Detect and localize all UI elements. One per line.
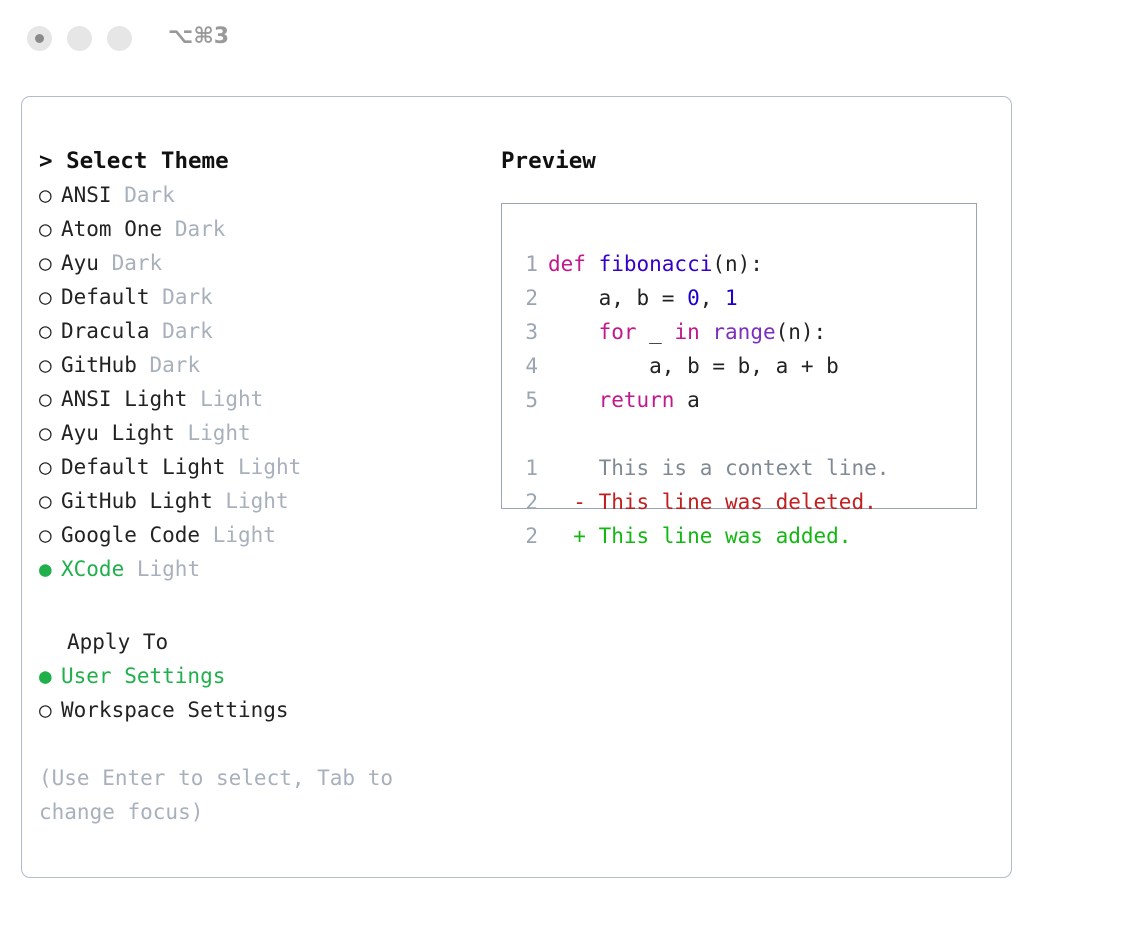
code-preview-panel: 1def fibonacci(n):2 a, b = 0, 13 for _ i… <box>501 203 977 509</box>
diff-line-number: 2 <box>516 485 538 519</box>
theme-list-item[interactable]: ○Default Light Light <box>39 450 479 484</box>
theme-list: ○ANSI Dark○Atom One Dark○Ayu Dark○Defaul… <box>39 178 479 586</box>
window-button-maximize[interactable] <box>107 26 132 51</box>
radio-unselected-icon: ○ <box>39 450 61 484</box>
theme-name: Google Code <box>61 523 200 547</box>
radio-unselected-icon: ○ <box>39 693 61 727</box>
code-line: 1def fibonacci(n): <box>516 247 966 281</box>
theme-list-item[interactable]: ○Google Code Light <box>39 518 479 552</box>
code-line: 5 return a <box>516 383 966 417</box>
theme-list-item[interactable]: ○Ayu Light Light <box>39 416 479 450</box>
theme-variant-label: Dark <box>124 183 175 207</box>
window-titlebar: ⌥⌘3 <box>0 0 1140 78</box>
theme-name: Ayu Light <box>61 421 175 445</box>
diff-line: 2 + This line was added. <box>516 519 966 553</box>
theme-name: GitHub <box>61 353 137 377</box>
radio-unselected-icon: ○ <box>39 314 61 348</box>
diff-sign <box>548 456 599 480</box>
diff-text: This line was deleted. <box>599 490 877 514</box>
code-token-kw: for <box>548 320 649 344</box>
diff-text: This line was added. <box>599 524 852 548</box>
apply-to-section: Apply To ●User Settings○Workspace Settin… <box>39 625 479 727</box>
theme-name: ANSI <box>61 183 112 207</box>
code-line-number: 5 <box>516 383 538 417</box>
theme-list-item[interactable]: ○GitHub Light Light <box>39 484 479 518</box>
theme-name: Atom One <box>61 217 162 241</box>
radio-unselected-icon: ○ <box>39 178 61 212</box>
radio-selected-icon: ● <box>39 659 61 693</box>
app-window: ⌥⌘3 > Select Theme ○ANSI Dark○Atom One D… <box>0 0 1140 934</box>
radio-unselected-icon: ○ <box>39 382 61 416</box>
diff-line: 2 - This line was deleted. <box>516 485 966 519</box>
code-token-plain: _ <box>649 320 674 344</box>
theme-name: Dracula <box>61 319 150 343</box>
main-panel: > Select Theme ○ANSI Dark○Atom One Dark○… <box>21 96 1012 878</box>
code-token-plain: (n): <box>712 252 763 276</box>
code-line-number: 1 <box>516 247 538 281</box>
theme-name: GitHub Light <box>61 489 213 513</box>
apply-to-list: ●User Settings○Workspace Settings <box>39 659 479 727</box>
theme-picker: > Select Theme ○ANSI Dark○Atom One Dark○… <box>39 144 479 586</box>
window-button-minimize[interactable] <box>67 26 92 51</box>
radio-unselected-icon: ○ <box>39 348 61 382</box>
radio-unselected-icon: ○ <box>39 416 61 450</box>
theme-name: XCode <box>61 557 124 581</box>
preview-header: Preview <box>501 144 991 178</box>
diff-line-number: 1 <box>516 451 538 485</box>
theme-list-item[interactable]: ○Dracula Dark <box>39 314 479 348</box>
code-token-kw: def <box>548 252 599 276</box>
apply-to-option[interactable]: ●User Settings <box>39 659 479 693</box>
code-line: 4 a, b = b, a + b <box>516 349 966 383</box>
theme-name: Default <box>61 285 150 309</box>
theme-variant-label: Dark <box>175 217 226 241</box>
theme-variant-label: Dark <box>162 319 213 343</box>
code-token-plain: a <box>687 388 700 412</box>
apply-to-option-label: Workspace Settings <box>61 698 289 722</box>
apply-to-option-label: User Settings <box>61 664 225 688</box>
active-dot-icon <box>35 34 44 43</box>
theme-name: ANSI Light <box>61 387 187 411</box>
code-token-fn: fibonacci <box>599 252 713 276</box>
preview-section: Preview <box>501 144 991 178</box>
theme-variant-label: Light <box>225 489 288 513</box>
code-preview-body: 1def fibonacci(n):2 a, b = 0, 13 for _ i… <box>516 247 966 553</box>
code-line-number: 3 <box>516 315 538 349</box>
theme-list-item[interactable]: ○GitHub Dark <box>39 348 479 382</box>
theme-variant-label: Dark <box>150 353 201 377</box>
window-button-close[interactable] <box>27 26 52 51</box>
code-token-plain: a, b = b, a + b <box>548 354 839 378</box>
keyboard-hint: (Use Enter to select, Tab to change focu… <box>39 761 449 829</box>
code-line: 2 a, b = 0, 1 <box>516 281 966 315</box>
theme-list-item[interactable]: ○Default Dark <box>39 280 479 314</box>
theme-variant-label: Dark <box>112 251 163 275</box>
code-line-number: 4 <box>516 349 538 383</box>
theme-variant-label: Light <box>200 387 263 411</box>
code-blank-line <box>516 417 966 451</box>
radio-unselected-icon: ○ <box>39 212 61 246</box>
code-token-kw: in <box>674 320 712 344</box>
code-token-plain: a, b = <box>548 286 687 310</box>
apply-to-option[interactable]: ○Workspace Settings <box>39 693 479 727</box>
theme-list-item[interactable]: ○Atom One Dark <box>39 212 479 246</box>
theme-list-item[interactable]: ○ANSI Light Light <box>39 382 479 416</box>
radio-unselected-icon: ○ <box>39 280 61 314</box>
theme-variant-label: Light <box>187 421 250 445</box>
keyboard-shortcut-label: ⌥⌘3 <box>168 24 229 49</box>
diff-sign: - <box>548 490 599 514</box>
code-line: 3 for _ in range(n): <box>516 315 966 349</box>
code-token-num: 1 <box>725 286 738 310</box>
code-token-plain: , <box>700 286 725 310</box>
theme-variant-label: Light <box>137 557 200 581</box>
code-token-plain: (n): <box>776 320 827 344</box>
theme-variant-label: Light <box>213 523 276 547</box>
diff-sign: + <box>548 524 599 548</box>
code-token-kw: return <box>548 388 687 412</box>
code-line-number: 2 <box>516 281 538 315</box>
theme-variant-label: Light <box>238 455 301 479</box>
theme-picker-header: > Select Theme <box>39 144 479 178</box>
theme-list-item[interactable]: ●XCode Light <box>39 552 479 586</box>
radio-unselected-icon: ○ <box>39 246 61 280</box>
code-token-num: 0 <box>687 286 700 310</box>
theme-name: Default Light <box>61 455 225 479</box>
theme-list-item[interactable]: ○Ayu Dark <box>39 246 479 280</box>
code-token-call: range <box>712 320 775 344</box>
theme-variant-label: Dark <box>162 285 213 309</box>
radio-unselected-icon: ○ <box>39 484 61 518</box>
diff-line: 1 This is a context line. <box>516 451 966 485</box>
theme-name: Ayu <box>61 251 99 275</box>
radio-unselected-icon: ○ <box>39 518 61 552</box>
diff-line-number: 2 <box>516 519 538 553</box>
diff-text: This is a context line. <box>599 456 890 480</box>
theme-list-item[interactable]: ○ANSI Dark <box>39 178 479 212</box>
apply-to-label: Apply To <box>39 625 479 659</box>
radio-selected-icon: ● <box>39 552 61 586</box>
